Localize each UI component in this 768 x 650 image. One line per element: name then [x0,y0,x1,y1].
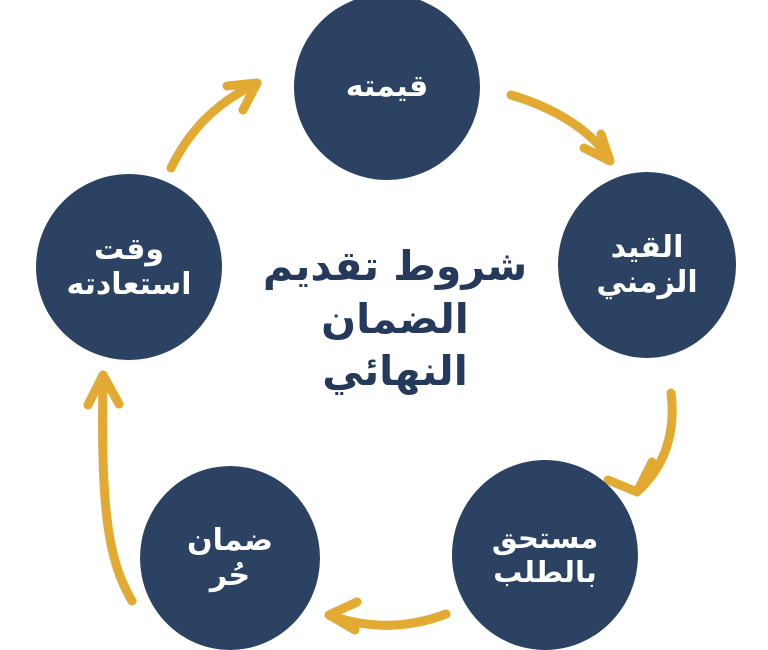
arrow-bottomleft-to-left [88,375,132,601]
cycle-node-bottom-left[interactable]: ضمان حُر [140,466,320,650]
center-title-line-2: الضمان [321,293,469,345]
center-title-line-3: النهائي [322,345,468,397]
cycle-diagram: قيمته القيد الزمني مستحق بالطلب ضمان حُر… [0,0,768,644]
cycle-node-right[interactable]: القيد الزمني [558,172,736,358]
cycle-node-right-label: القيد الزمني [590,230,703,301]
diagram-center-title: شروط تقديم الضمان النهائي [236,196,554,442]
cycle-node-top-label: قيمته [340,69,434,104]
cycle-node-left[interactable]: وقت استعادته [36,174,222,360]
center-title-line-1: شروط تقديم [263,240,527,292]
arrow-left-to-top [171,83,257,168]
cycle-node-left-label: وقت استعادته [60,232,197,303]
arrow-top-to-right [511,95,610,161]
cycle-node-top[interactable]: قيمته [294,0,480,180]
arrow-bottomright-to-bottomleft [329,602,446,630]
cycle-node-bottom-right-label: مستحق بالطلب [486,521,604,589]
cycle-node-bottom-right[interactable]: مستحق بالطلب [452,460,638,650]
arrow-right-to-bottomright [608,393,672,492]
cycle-node-bottom-left-label: ضمان حُر [181,523,279,594]
